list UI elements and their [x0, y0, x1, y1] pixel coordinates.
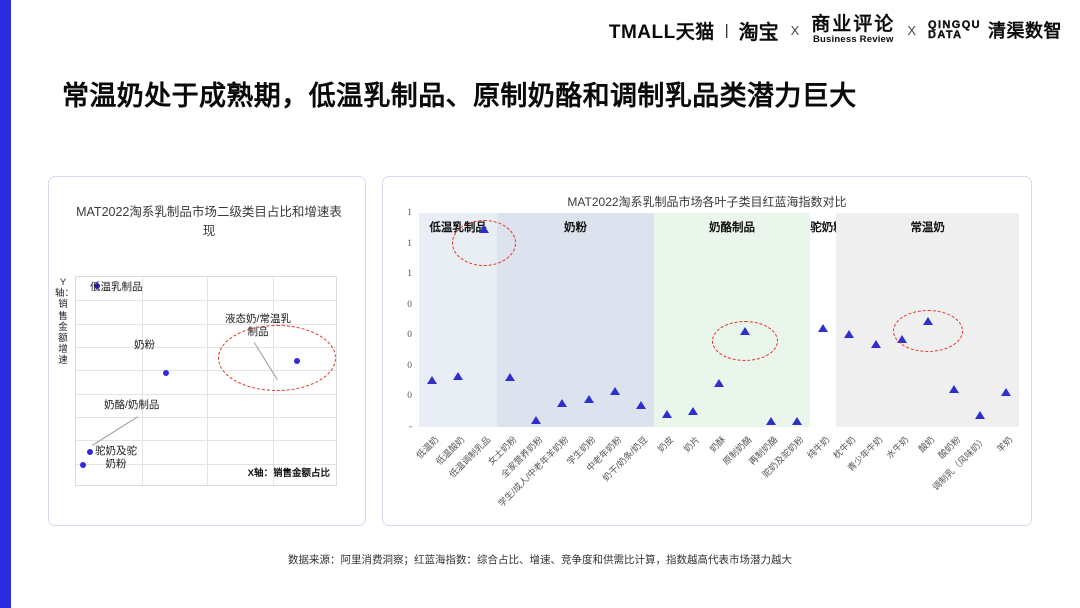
brand-header: TMALL天猫 | 淘宝 X 商业评论 Business Review X QI…	[609, 14, 1062, 46]
group-band-驼奶粉: 驼奶粉	[810, 213, 836, 427]
data-point-marker	[975, 411, 985, 419]
data-point-marker	[610, 387, 620, 395]
taobao-logo: 淘宝	[739, 16, 779, 45]
scatter-point	[294, 358, 300, 364]
left-chart-y-axis-label: Y轴：销售金额增速	[55, 277, 71, 367]
data-point-marker	[479, 225, 489, 233]
data-point-marker	[427, 376, 437, 384]
left-grid-line-vertical	[207, 277, 208, 485]
data-point-marker	[766, 417, 776, 425]
group-band-label: 奶粉	[497, 219, 654, 235]
scatter-point	[80, 462, 86, 468]
tmall-logo: TMALL天猫	[609, 17, 715, 44]
data-point-marker	[792, 417, 802, 425]
scatter-point-label: 奶酪/奶制品	[104, 399, 159, 412]
label-leader-line	[92, 416, 139, 446]
scatter-point	[163, 370, 169, 376]
left-grid-line-horizontal	[76, 324, 336, 325]
left-grid-line-horizontal	[76, 347, 336, 348]
group-band-label: 常温奶	[836, 219, 1019, 235]
data-point-marker	[714, 379, 724, 387]
data-point-marker	[584, 395, 594, 403]
y-axis-tick-label: 1	[407, 269, 412, 279]
left-grid-line-horizontal	[76, 370, 336, 371]
business-review-en: Business Review	[813, 35, 894, 45]
left-accent-bar	[0, 0, 11, 608]
data-point-marker	[871, 340, 881, 348]
data-point-marker	[636, 401, 646, 409]
data-point-marker	[557, 399, 567, 407]
x-axis-tick-label: 纯牛奶	[804, 433, 832, 461]
scatter-point-label: 奶粉	[134, 339, 155, 352]
left-grid-line-horizontal	[76, 417, 336, 418]
scatter-point-label: 低温乳制品	[90, 281, 143, 294]
data-point-marker	[740, 327, 750, 335]
left-grid-line-vertical	[273, 277, 274, 485]
red-blue-ocean-index-plot: 低温乳制品奶粉奶酪制品驼奶粉常温奶1110000-低温奶低温酸奶低温调制乳品女士…	[419, 213, 1019, 427]
x-axis-tick-label: 奶片	[680, 433, 702, 455]
data-point-marker	[1001, 388, 1011, 396]
y-axis-tick-label: 1	[407, 208, 412, 218]
scatter-point-label: 驼奶及驼奶粉	[90, 445, 142, 471]
y-axis-tick-label: 0	[407, 330, 412, 340]
right-chart-title: MAT2022淘系乳制品市场各叶子类目红蓝海指数对比	[383, 193, 1031, 210]
source-note: 数据来源：阿里消费洞察；红蓝海指数：综合占比、增速、竞争度和供需比计算，指数越高…	[0, 552, 1080, 567]
group-band-label: 奶酪制品	[654, 219, 811, 235]
left-grid-line-horizontal	[76, 394, 336, 395]
data-point-marker	[688, 407, 698, 415]
left-scatter-plot: X轴：销售金额占比 低温乳制品奶粉液态奶/常温乳制品奶酪/奶制品驼奶及驼奶粉	[75, 276, 337, 486]
left-chart-x-axis-label: X轴：销售金额占比	[248, 465, 330, 479]
left-chart-card: MAT2022淘系乳制品市场二级类目占比和增速表现 Y轴：销售金额增速 X轴：销…	[48, 176, 366, 526]
left-chart-title: MAT2022淘系乳制品市场二级类目占比和增速表现	[71, 203, 347, 242]
left-grid-line-horizontal	[76, 300, 336, 301]
logo-separator: |	[725, 22, 729, 39]
y-axis-tick-label: 0	[407, 300, 412, 310]
data-point-marker	[531, 416, 541, 424]
left-grid-line-horizontal	[76, 440, 336, 441]
x-axis-tick-label: 水牛奶	[882, 433, 910, 461]
x-separator-2: X	[904, 23, 919, 38]
y-axis-tick-label: 0	[407, 361, 412, 371]
page-title: 常温奶处于成熟期，低温乳制品、原制奶酪和调制乳品类潜力巨大	[62, 74, 857, 113]
group-band-奶酪制品: 奶酪制品	[654, 213, 811, 427]
qingqu-logo: QINGQU DATA 清渠数智	[928, 17, 1062, 43]
data-point-marker	[662, 410, 672, 418]
qingqu-mark-line2: DATA	[928, 30, 981, 40]
y-axis-tick-label: 1	[407, 239, 412, 249]
data-point-marker	[844, 330, 854, 338]
y-axis-tick-label: 0	[407, 391, 412, 401]
x-axis-tick-label: 奶皮	[654, 433, 676, 455]
group-band-低温乳制品: 低温乳制品	[419, 213, 497, 427]
data-point-marker	[923, 317, 933, 325]
data-point-marker	[897, 335, 907, 343]
scatter-point-label: 液态奶/常温乳制品	[224, 313, 292, 339]
qingqu-wordmark: QINGQU DATA	[928, 20, 981, 40]
data-point-marker	[949, 385, 959, 393]
group-band-奶粉: 奶粉	[497, 213, 654, 427]
group-band-label: 驼奶粉	[810, 219, 836, 235]
qingqu-cn: 清渠数智	[988, 17, 1062, 43]
x-axis-tick-label: 羊奶	[993, 433, 1015, 455]
x-separator-1: X	[788, 23, 803, 38]
label-leader-line	[254, 342, 278, 380]
y-axis-tick-label: -	[409, 422, 412, 432]
business-review-logo: 商业评论 Business Review	[811, 15, 895, 45]
data-point-marker	[505, 373, 515, 381]
data-point-marker	[818, 324, 828, 332]
data-point-marker	[453, 372, 463, 380]
right-chart-card: MAT2022淘系乳制品市场各叶子类目红蓝海指数对比 低温乳制品奶粉奶酪制品驼奶…	[382, 176, 1032, 526]
business-review-cn: 商业评论	[811, 15, 895, 34]
